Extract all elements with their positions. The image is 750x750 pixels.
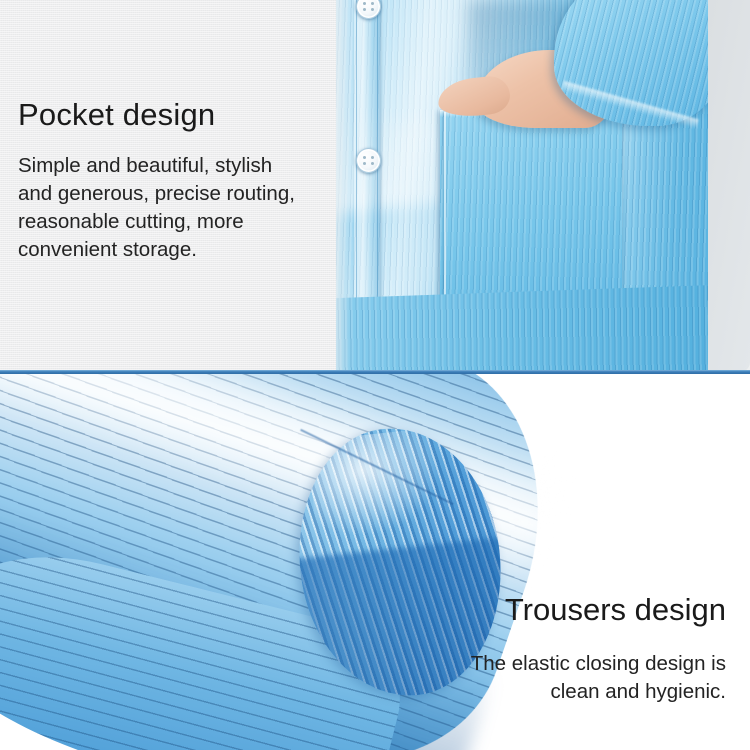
button-hole (363, 8, 366, 11)
shirt-button-lower (356, 148, 381, 173)
body-line: convenient storage. (18, 236, 330, 264)
button-hole (371, 8, 374, 11)
trousers-design-body: The elastic closing design is clean and … (471, 650, 726, 706)
trousers-design-heading: Trousers design (505, 592, 726, 628)
button-hole (363, 2, 366, 5)
lower-garment-hem (318, 285, 708, 372)
button-hole (371, 2, 374, 5)
smock-pocket-photo (318, 0, 708, 372)
pocket-design-body: Simple and beautiful, stylish and genero… (18, 152, 330, 264)
body-line: and generous, precise routing, (18, 180, 330, 208)
pocket-design-heading: Pocket design (18, 97, 215, 133)
patch-pocket (440, 110, 622, 310)
button-hole (371, 156, 374, 159)
body-line: reasonable cutting, more (18, 208, 330, 236)
button-hole (363, 156, 366, 159)
body-line: Simple and beautiful, stylish (18, 152, 330, 180)
body-line: The elastic closing design is (471, 650, 726, 678)
body-line: clean and hygienic. (471, 678, 726, 706)
product-feature-image: Pocket design Simple and beautiful, styl… (0, 0, 750, 750)
button-hole (363, 162, 366, 165)
pocket-stitching-vertical (444, 112, 446, 308)
pocket-design-panel: Pocket design Simple and beautiful, styl… (0, 0, 750, 372)
button-hole (371, 162, 374, 165)
